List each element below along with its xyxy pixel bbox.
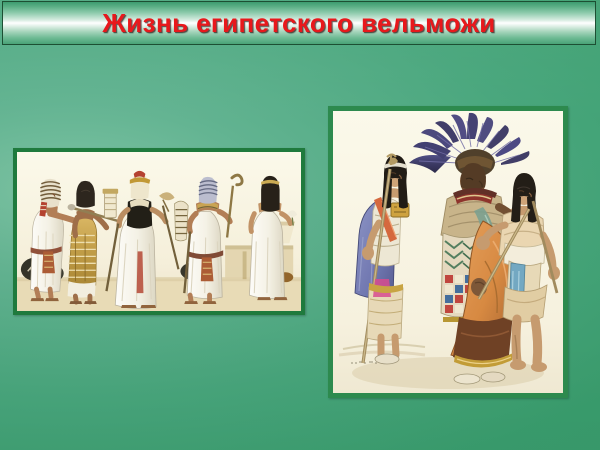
picture-left-illustration <box>17 152 301 311</box>
page-title: Жизнь египетского вельможи <box>102 10 495 37</box>
picture-right-egyptian-dignitary[interactable] <box>328 106 568 398</box>
picture-left-egyptian-nobles[interactable] <box>13 148 305 315</box>
picture-right-illustration <box>333 111 563 393</box>
slide-canvas: Жизнь египетского вельможи <box>0 0 600 450</box>
slide-title-bar: Жизнь египетского вельможи <box>2 1 596 45</box>
